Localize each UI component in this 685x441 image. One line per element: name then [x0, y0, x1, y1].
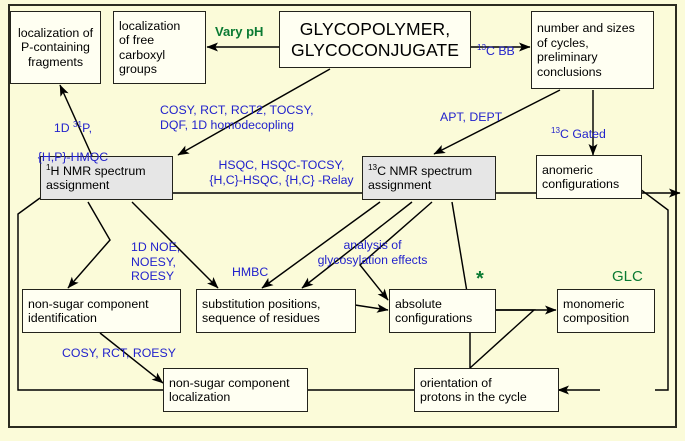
edge-label-13c-gated: 13C Gated	[551, 112, 606, 141]
edge-label-hsqc-group: HSQC, HSQC-TOCSY, {H,C}-HSQC, {H,C} -Rel…	[189, 158, 374, 187]
edge-label-hmbc: HMBC	[232, 265, 268, 280]
edge-label-apt-dept: APT, DEPT	[440, 110, 502, 125]
edge-label-1d-31p-hmqc: 1D 31P, {H,P}-HMQC	[14, 106, 132, 164]
node-orientation-of-protons[interactable]: orientation of protons in the cycle	[414, 368, 559, 412]
node-glycopolymer-glycoconjugate[interactable]: GLYCOPOLYMER, GLYCOCONJUGATE	[279, 11, 471, 68]
node-free-carboxyl-groups[interactable]: localization of free carboxyl groups	[113, 11, 206, 84]
node-number-sizes-of-cycles[interactable]: number and sizes of cycles, preliminary …	[531, 11, 654, 89]
superscript-13: 13	[551, 125, 560, 134]
edge-cnmr-orientation	[452, 202, 470, 368]
node-absolute-configurations[interactable]: absolute configurations	[389, 289, 496, 333]
diagram-canvas: localization of P-containing fragments l…	[0, 0, 685, 441]
edge-label-glycosylation-effects: analysis of glycosylation effects	[310, 238, 435, 267]
node-anomeric-configurations[interactable]: anomeric configurations	[536, 155, 642, 199]
superscript-31: 31	[73, 119, 82, 128]
node-13c-nmr-label: 13C NMR spectrum assignment	[368, 164, 472, 193]
node-1h-nmr-label: 1H NMR spectrum assignment	[46, 164, 146, 193]
node-non-sugar-component-localization[interactable]: non-sugar component localization	[163, 368, 308, 412]
edge-hnmr-nonsugarid	[68, 202, 110, 288]
node-p-containing-fragments[interactable]: localization of P-containing fragments	[10, 11, 101, 84]
edge-label-glc: GLC	[612, 268, 643, 286]
node-non-sugar-component-identification[interactable]: non-sugar component identification	[22, 289, 181, 333]
superscript-13: 13	[477, 42, 486, 51]
edge-label-13c-bb: 13C BB	[477, 29, 515, 58]
node-substitution-positions[interactable]: substitution positions, sequence of resi…	[196, 289, 356, 333]
edge-label-asterisk: *	[476, 268, 484, 292]
edge-label-1d-noe-noesy-roesy: 1D NOE, NOESY, ROESY	[131, 240, 180, 284]
edge-label-cosy-rct-roesy: COSY, RCT, ROESY	[62, 346, 176, 361]
edge-label-cosy-rct-tocsy-group: COSY, RCT, RCT2, TOCSY, DQF, 1D homodeco…	[160, 103, 314, 132]
node-13c-nmr-spectrum-assignment[interactable]: 13C NMR spectrum assignment	[362, 156, 496, 200]
node-monomeric-composition[interactable]: monomeric composition	[557, 289, 655, 333]
edge-label-vary-ph: Vary pH	[215, 24, 263, 39]
edge-substitution-absolute	[355, 305, 388, 310]
